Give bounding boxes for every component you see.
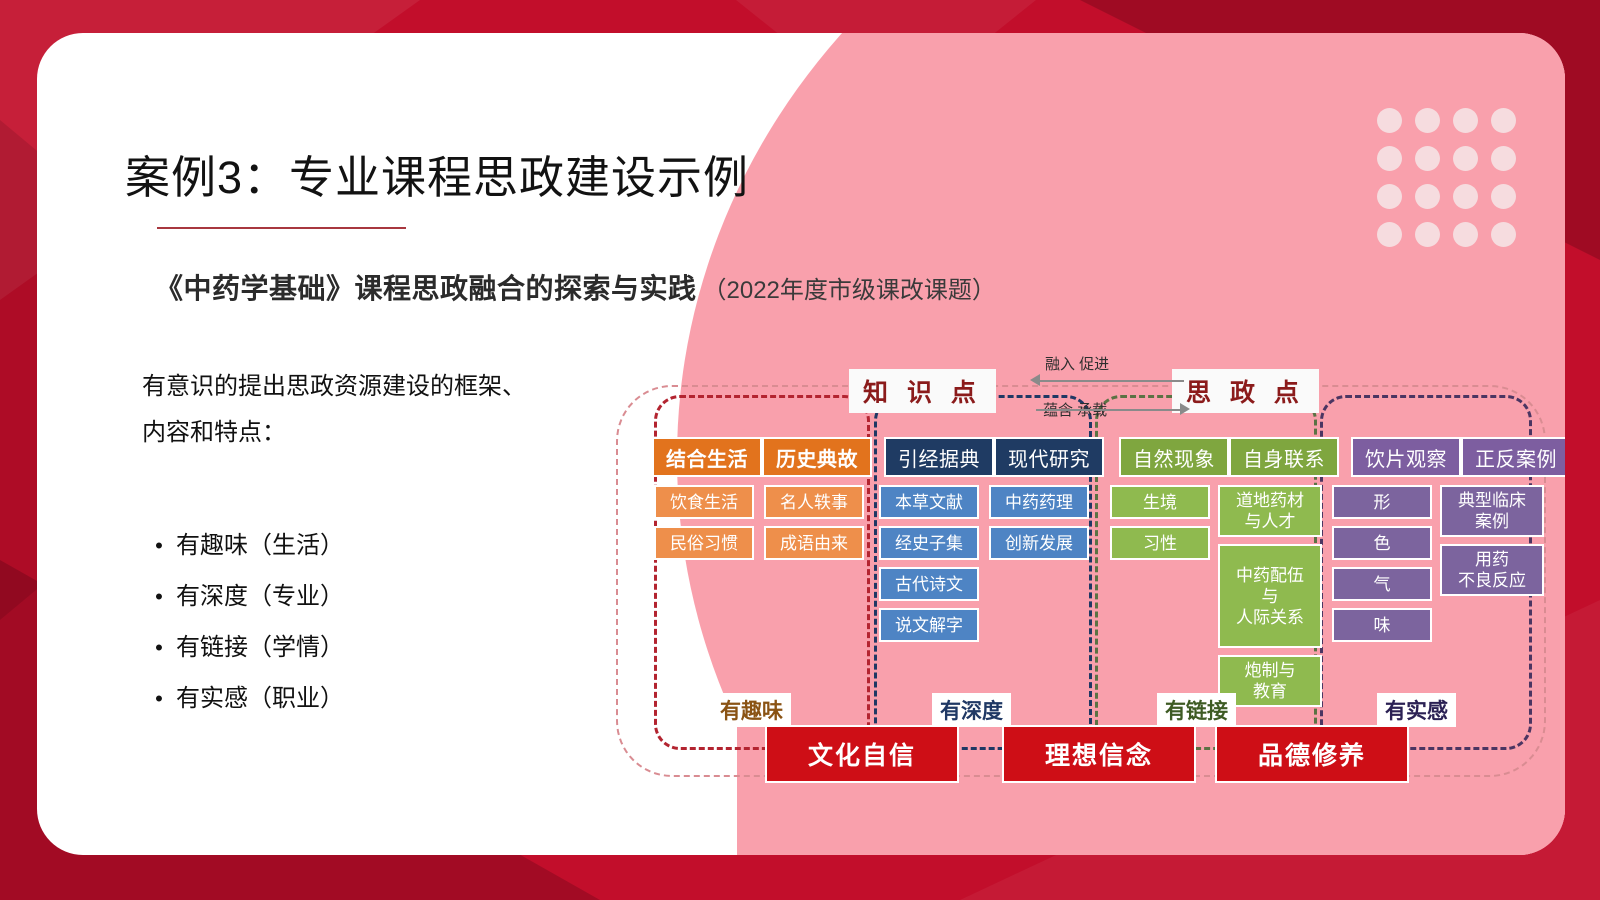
bullet-item: •有链接（学情） [142,622,344,673]
decoration-dot [1491,108,1516,133]
header-cell: 自然现象 [1119,437,1229,477]
decoration-dot [1491,184,1516,209]
bullet-list: •有趣味（生活）•有深度（专业）•有链接（学情）•有实感（职业） [142,520,344,724]
title-underline [157,227,406,229]
decoration-dot [1453,184,1478,209]
decoration-dot [1453,108,1478,133]
slide-card: 案例3：专业课程思政建设示例 《中药学基础》课程思政融合的探索与实践 （2022… [37,33,1565,855]
header-cell: 历史典故 [762,437,872,477]
slide-background: 案例3：专业课程思政建设示例 《中药学基础》课程思政融合的探索与实践 （2022… [0,0,1600,900]
decoration-dot [1415,222,1440,247]
outcome-box-culture: 文化自信 [765,725,959,783]
diagram-column: 名人轶事成语由来 [764,485,864,560]
diagram-cell: 道地药材与人才 [1218,485,1322,537]
decoration-dot [1377,146,1402,171]
bullet-label: 有实感（职业） [176,673,344,724]
header-gap [1104,437,1119,477]
framework-diagram: 知 识 点 思 政 点 融入 促进 蕴含 承载 结合生活历史典故引经据典现代研究… [602,353,1562,813]
diagram-column: 中药药理创新发展 [989,485,1089,560]
diagram-cell: 名人轶事 [764,485,864,519]
bullet-label: 有趣味（生活） [176,520,344,571]
bullet-item: •有实感（职业） [142,673,344,724]
bullet-item: •有深度（专业） [142,571,344,622]
bullet-label: 有深度（专业） [176,571,344,622]
dot-grid-decoration [1377,108,1529,260]
decoration-dot [1491,222,1516,247]
diagram-cell: 民俗习惯 [654,526,754,560]
diagram-cell: 气 [1332,567,1432,601]
group-label-depth: 有深度 [932,693,1011,727]
decoration-dot [1377,184,1402,209]
diagram-cell: 中药药理 [989,485,1089,519]
bullet-marker-icon: • [142,622,176,673]
group-label-link: 有链接 [1157,693,1236,727]
diagram-column: 本草文献经史子集古代诗文说文解字 [879,485,979,642]
lead-paragraph: 有意识的提出思政资源建设的框架、 内容和特点： [142,364,526,456]
diagram-cell: 色 [1332,526,1432,560]
diagram-cell: 成语由来 [764,526,864,560]
diagram-cell: 生境 [1110,485,1210,519]
bullet-item: •有趣味（生活） [142,520,344,571]
decoration-dot [1453,222,1478,247]
diagram-cell: 古代诗文 [879,567,979,601]
diagram-cell: 本草文献 [879,485,979,519]
arrow-line-left [1036,380,1184,382]
diagram-cell: 形 [1332,485,1432,519]
header-gap [872,437,884,477]
bullet-marker-icon: • [142,673,176,724]
decoration-dot [1377,222,1402,247]
subtitle-main: 《中药学基础》课程思政融合的探索与实践 [155,267,697,307]
header-cell: 饮片观察 [1351,437,1461,477]
diagram-cell: 说文解字 [879,608,979,642]
outcome-box-ideal: 理想信念 [1002,725,1196,783]
diagram-cell: 创新发展 [989,526,1089,560]
diagram-column: 形色气味 [1332,485,1432,642]
diagram-column: 道地药材与人才中药配伍与人际关系炮制与教育 [1218,485,1322,707]
diagram-cell: 经史子集 [879,526,979,560]
arrow-head-left-icon [1030,374,1040,386]
header-cell: 正反案例 [1461,437,1565,477]
header-cell: 现代研究 [994,437,1104,477]
bullet-marker-icon: • [142,520,176,571]
badge-knowledge-point: 知 识 点 [849,369,996,413]
decoration-dot [1415,108,1440,133]
decoration-dot [1415,146,1440,171]
decoration-dot [1377,108,1402,133]
subtitle-parenthetical: （2022年度市级课改课题） [703,270,996,305]
diagram-column: 典型临床案例用药不良反应 [1440,485,1544,596]
bullet-marker-icon: • [142,571,176,622]
diagram-cell: 味 [1332,608,1432,642]
decoration-dot [1453,146,1478,171]
diagram-cell: 中药配伍与人际关系 [1218,544,1322,648]
header-gap [1339,437,1351,477]
arrow-head-right-icon [1180,403,1190,415]
header-row: 结合生活历史典故引经据典现代研究自然现象自身联系饮片观察正反案例 [652,437,1565,477]
decoration-dot [1415,184,1440,209]
lead-line-2: 内容和特点： [142,410,526,456]
header-cell: 自身联系 [1229,437,1339,477]
outcome-box-morality: 品德修养 [1215,725,1409,783]
arrow-line-right [1036,409,1184,411]
group-label-reality: 有实感 [1377,693,1456,727]
bullet-label: 有链接（学情） [176,622,344,673]
diagram-cell: 用药不良反应 [1440,544,1544,596]
subtitle: 《中药学基础》课程思政融合的探索与实践 （2022年度市级课改课题） [155,267,996,307]
decoration-dot [1491,146,1516,171]
page-title: 案例3：专业课程思政建设示例 [125,141,749,206]
header-cell: 结合生活 [652,437,762,477]
header-cell: 引经据典 [884,437,994,477]
diagram-cell: 习性 [1110,526,1210,560]
diagram-column: 生境习性 [1110,485,1210,560]
arrow-label-upper: 融入 促进 [1045,353,1109,374]
diagram-cell: 饮食生活 [654,485,754,519]
group-label-interest: 有趣味 [712,693,791,727]
lead-line-1: 有意识的提出思政资源建设的框架、 [142,364,526,410]
diagram-cell: 典型临床案例 [1440,485,1544,537]
badge-ideology-point: 思 政 点 [1172,369,1319,413]
diagram-column: 饮食生活民俗习惯 [654,485,754,560]
